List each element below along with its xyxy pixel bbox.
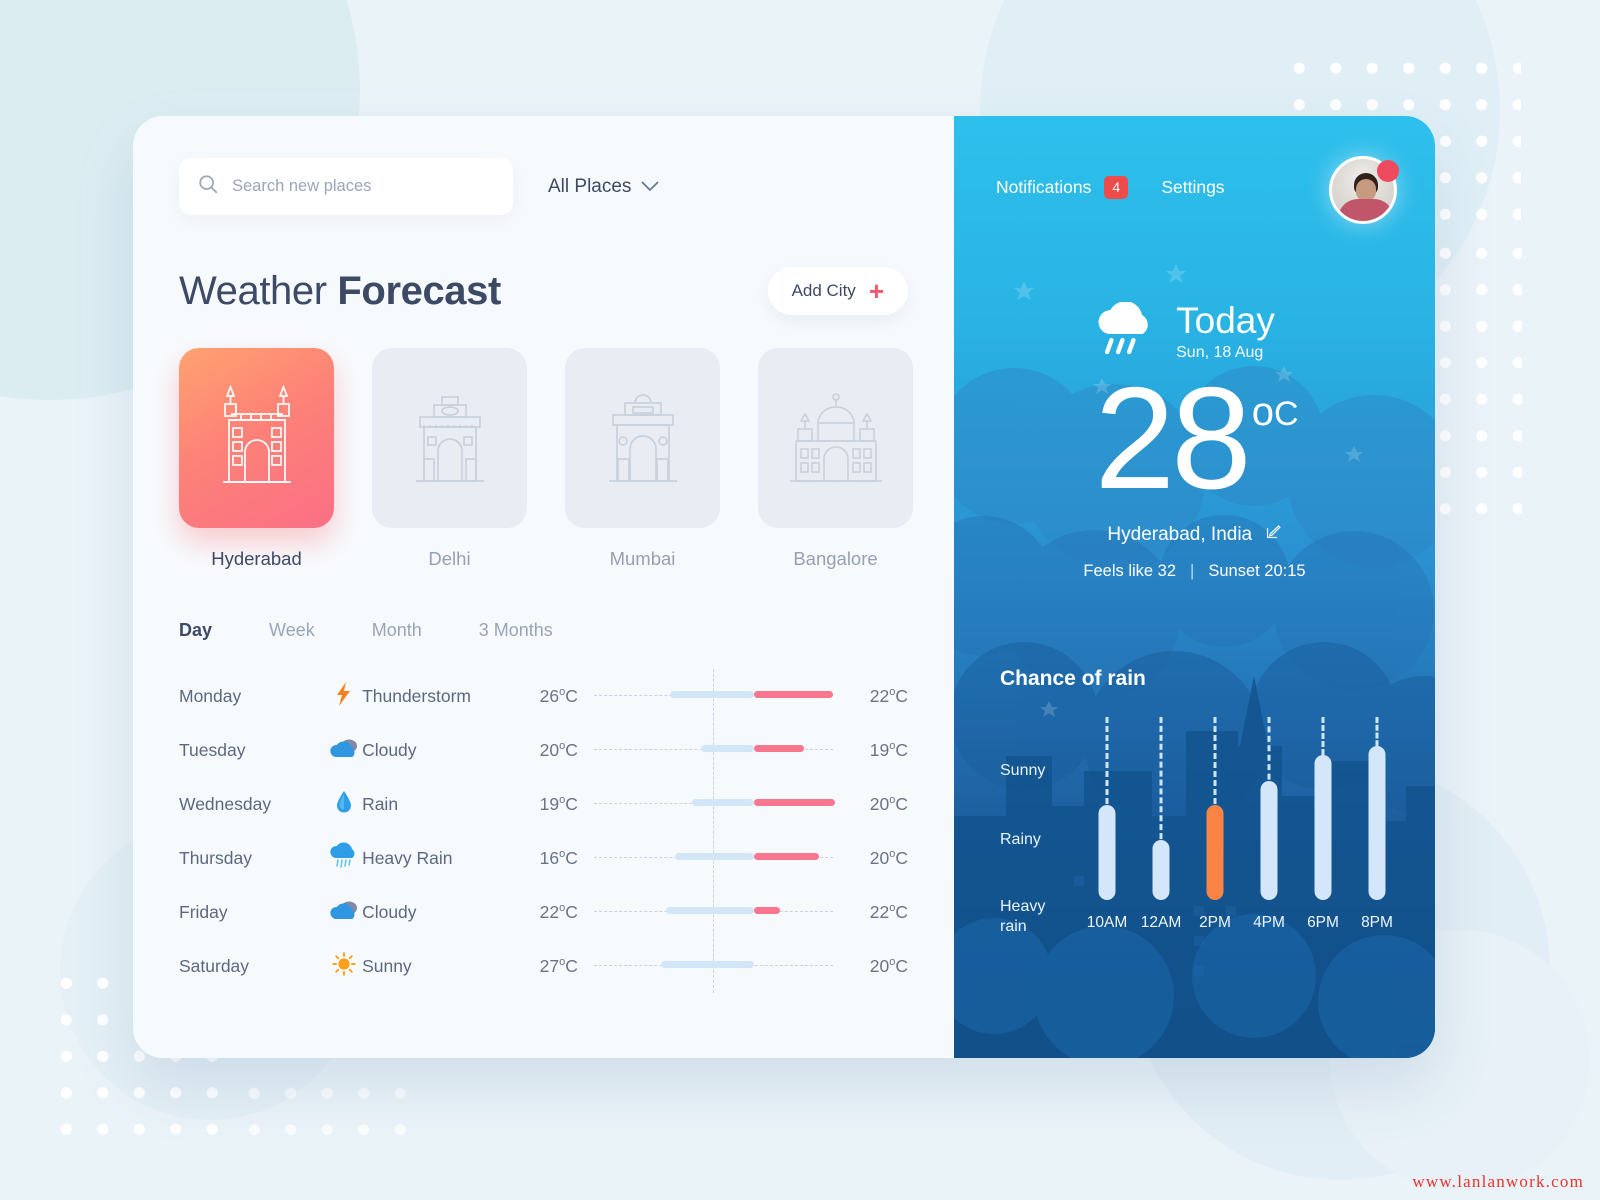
settings-button[interactable]: Settings [1161, 177, 1224, 198]
forecast-high: 20oC [833, 848, 908, 869]
bar-segment-high [754, 799, 835, 806]
india-gate-icon [404, 383, 496, 493]
forecast-temp-bar [594, 939, 833, 993]
bar-segment-low [701, 745, 754, 752]
chance-of-rain-title: Chance of rain [1000, 667, 1435, 691]
chart-bar-group: 10AM12AM2PM4PM6PM8PM [1080, 717, 1404, 939]
forecast-high: 20oC [833, 794, 908, 815]
forecast-day: Wednesday [179, 794, 325, 815]
forecast-high: 20oC [833, 956, 908, 977]
bar-segment-low [675, 853, 754, 860]
city-tile [372, 348, 527, 528]
tab-day[interactable]: Day [179, 620, 212, 641]
add-city-label: Add City [792, 281, 856, 301]
page-header: Weather Forecast Add City + [133, 267, 954, 315]
chart-bar [1099, 805, 1116, 900]
chance-of-rain-chart: Sunny Rainy Heavy rain 10AM12AM2PM4PM6PM… [1000, 717, 1404, 939]
forecast-condition: Rain [362, 794, 518, 815]
bar-segment-low [692, 799, 754, 806]
unit: C [565, 902, 578, 922]
forecast-high: 22oC [833, 686, 908, 707]
tab-month[interactable]: Month [372, 620, 422, 641]
forecast-day: Thursday [179, 848, 325, 869]
gateway-of-india-icon [597, 383, 689, 493]
forecast-row: FridayCloudy22oC22oC [179, 885, 908, 939]
forecast-day: Tuesday [179, 740, 325, 761]
edit-pencil-icon[interactable] [1260, 527, 1281, 544]
unit: C [895, 902, 908, 922]
chart-bar-stem [1160, 717, 1163, 848]
city-name: Delhi [372, 548, 527, 570]
chart-bar [1207, 805, 1224, 900]
places-filter-label: All Places [548, 176, 631, 198]
cloudy-icon [325, 737, 362, 763]
city-card-mumbai[interactable]: Mumbai [565, 348, 720, 570]
bar-segment-low [666, 907, 754, 914]
plus-icon: + [869, 278, 884, 304]
forecast-condition: Cloudy [362, 902, 518, 923]
bar-segment-low [670, 691, 754, 698]
city-tile [565, 348, 720, 528]
page-title: Weather Forecast [179, 269, 501, 314]
temperature-unit: C [1274, 395, 1299, 433]
places-filter-dropdown[interactable]: All Places [548, 176, 659, 198]
forecast-list: MondayThunderstorm26oC22oCTuesdayCloudy2… [133, 669, 954, 993]
unit: C [895, 686, 908, 706]
forecast-high: 22oC [833, 902, 908, 923]
temperature-value: 28 [1094, 357, 1247, 519]
city-tile [758, 348, 913, 528]
chart-bar-column[interactable]: 2PM [1188, 717, 1242, 900]
city-card-hyderabad[interactable]: Hyderabad [179, 348, 334, 570]
bar-segment-high [754, 853, 819, 860]
today-label: Today [1176, 302, 1275, 341]
feels-like: Feels like 32 [1083, 562, 1176, 580]
city-card-delhi[interactable]: Delhi [372, 348, 527, 570]
today-summary: Today Sun, 18 Aug [954, 302, 1435, 362]
forecast-temp-bar [594, 669, 833, 723]
chart-bar-column[interactable]: 10AM [1080, 717, 1134, 900]
thunderstorm-icon [325, 681, 362, 711]
unit: C [565, 686, 578, 706]
rain-cloud-icon [1092, 302, 1158, 361]
watermark: www.lanlanwork.com [1412, 1172, 1584, 1192]
tab-3-months[interactable]: 3 Months [479, 620, 553, 641]
top-toolbar: All Places [133, 158, 954, 215]
current-location: Hyderabad, India [954, 523, 1435, 546]
chart-x-label: 2PM [1188, 914, 1242, 932]
avatar-status-dot [1377, 160, 1399, 182]
location-name: Hyderabad, India [1107, 524, 1252, 545]
unit: C [895, 848, 908, 868]
city-name: Mumbai [565, 548, 720, 570]
forecast-day: Monday [179, 686, 325, 707]
forecast-day: Saturday [179, 956, 325, 977]
forecast-low: 27oC [518, 956, 594, 977]
y-axis-label-sunny: Sunny [1000, 761, 1045, 781]
bar-segment-low [661, 961, 754, 968]
unit: C [565, 848, 578, 868]
unit: C [895, 794, 908, 814]
add-city-button[interactable]: Add City + [768, 267, 908, 315]
page-title-light: Weather [179, 269, 337, 313]
forecast-low: 20oC [518, 740, 594, 761]
bar-segment-high [754, 691, 833, 698]
chart-bar-column[interactable]: 8PM [1350, 717, 1404, 900]
heavy-rain-icon [325, 842, 362, 874]
forecast-high: 19oC [833, 740, 908, 761]
forecast-row: MondayThunderstorm26oC22oC [179, 669, 908, 723]
sunny-icon [325, 952, 362, 980]
charminar-icon [211, 382, 303, 494]
forecast-low: 26oC [518, 686, 594, 707]
y-axis-label-heavy-rain: Heavy rain [1000, 897, 1058, 937]
forecast-row: WednesdayRain19oC20oC [179, 777, 908, 831]
unit: C [565, 956, 578, 976]
dashboard-card: All Places Weather Forecast Add City + [133, 116, 1435, 1058]
right-panel-nav: Notifications 4 Settings [954, 116, 1435, 199]
bar-segment-high [754, 745, 804, 752]
search-box[interactable] [179, 158, 513, 215]
chart-bar [1153, 840, 1170, 900]
forecast-day: Friday [179, 902, 325, 923]
city-card-bangalore[interactable]: Bangalore [758, 348, 913, 570]
chevron-down-icon [641, 176, 659, 198]
cloudy-icon [325, 899, 362, 925]
search-icon [197, 173, 219, 200]
rain-icon [325, 790, 362, 818]
chart-x-label: 4PM [1242, 914, 1296, 932]
chart-bar [1315, 755, 1332, 900]
chart-bar [1261, 781, 1278, 900]
bar-segment-high [754, 907, 780, 914]
y-axis-label-rainy: Rainy [1000, 830, 1041, 850]
forecast-condition: Heavy Rain [362, 848, 518, 869]
forecast-temp-bar [594, 723, 833, 777]
city-name: Bangalore [758, 548, 913, 570]
chart-x-label: 10AM [1080, 914, 1134, 932]
current-temperature: 28oC [954, 366, 1435, 511]
forecast-row: SaturdaySunny27oC20oC [179, 939, 908, 993]
vidhana-soudha-icon [784, 383, 888, 493]
search-input[interactable] [232, 177, 495, 196]
forecast-temp-bar [594, 777, 833, 831]
chart-bar [1369, 746, 1386, 900]
forecast-condition: Sunny [362, 956, 518, 977]
period-tabs: Day Week Month 3 Months [133, 620, 954, 641]
forecast-row: TuesdayCloudy20oC19oC [179, 723, 908, 777]
city-name: Hyderabad [179, 548, 334, 570]
page-title-bold: Forecast [337, 269, 501, 313]
left-panel: All Places Weather Forecast Add City + [133, 116, 954, 1058]
notifications-label: Notifications [996, 177, 1091, 198]
forecast-temp-bar [594, 885, 833, 939]
chart-bar-column[interactable]: 4PM [1242, 717, 1296, 900]
meta-separator: | [1176, 562, 1208, 581]
chart-x-label: 6PM [1296, 914, 1350, 932]
unit: C [895, 956, 908, 976]
chart-bar-column[interactable]: 12AM [1134, 717, 1188, 900]
sunset-time: Sunset 20:15 [1208, 562, 1305, 580]
chart-bar-stem [1106, 717, 1109, 813]
chart-bar-stem [1214, 717, 1217, 813]
forecast-low: 19oC [518, 794, 594, 815]
forecast-low: 22oC [518, 902, 594, 923]
dot-pattern-bottom-left-2 [236, 1075, 426, 1155]
notifications-button[interactable]: Notifications 4 [996, 176, 1128, 199]
unit: C [565, 794, 578, 814]
notifications-badge: 4 [1104, 176, 1128, 199]
chart-x-label: 8PM [1350, 914, 1404, 932]
chart-bar-stem [1268, 717, 1271, 789]
right-panel: Notifications 4 Settings Toda [954, 116, 1435, 1058]
tab-week[interactable]: Week [269, 620, 315, 641]
forecast-row: ThursdayHeavy Rain16oC20oC [179, 831, 908, 885]
degree-symbol: o [1252, 390, 1274, 434]
forecast-low: 16oC [518, 848, 594, 869]
unit: C [895, 740, 908, 760]
forecast-temp-bar [594, 831, 833, 885]
current-meta: Feels like 32|Sunset 20:15 [954, 562, 1435, 581]
forecast-condition: Thunderstorm [362, 686, 518, 707]
avatar-face [1356, 179, 1376, 201]
chart-x-label: 12AM [1134, 914, 1188, 932]
city-list: Hyderabad [133, 348, 954, 570]
chart-bar-column[interactable]: 6PM [1296, 717, 1350, 900]
dot-pattern-mid-right [1427, 235, 1522, 535]
unit: C [565, 740, 578, 760]
forecast-condition: Cloudy [362, 740, 518, 761]
avatar-shirt [1338, 199, 1394, 224]
city-tile [179, 348, 334, 528]
